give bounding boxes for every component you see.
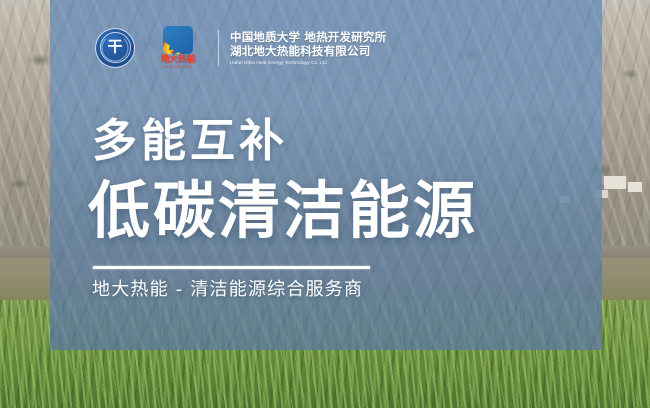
photo-building (604, 176, 626, 189)
organization-names: 中国地质大学 地热开发研究所 湖北地大热能科技有限公司 Hubei DiDa H… (230, 30, 386, 66)
hero-kicker: 多能互补 (92, 118, 288, 163)
hero-tagline: 地大热能 - 清洁能源综合服务商 (92, 281, 363, 299)
rainbow-tile-icon (163, 26, 193, 54)
org-company-line: 湖北地大热能科技有限公司 (230, 44, 386, 58)
org-company-english-line: Hubei DiDa Heat Energy Technology Co.,Lt… (230, 60, 386, 66)
hero-divider-rule (93, 266, 370, 269)
org-institute-line: 中国地质大学 地热开发研究所 (230, 30, 386, 44)
company-logo-pinyin: DI DA RE NENG (147, 65, 209, 70)
logo-lockup: 干 地大热能 DI DA RE NENG 中国地质大学 地热开发研究所 湖北地大… (95, 26, 386, 70)
logo-divider (218, 30, 219, 66)
hero-headline: 低碳清洁能源 (88, 178, 478, 243)
photo-building (628, 182, 642, 192)
university-seal-icon: 干 (95, 28, 135, 68)
seal-glyph: 干 (107, 40, 122, 55)
promotional-banner: 干 地大热能 DI DA RE NENG 中国地质大学 地热开发研究所 湖北地大… (0, 0, 650, 408)
company-logo-icon: 地大热能 DI DA RE NENG (147, 26, 209, 70)
